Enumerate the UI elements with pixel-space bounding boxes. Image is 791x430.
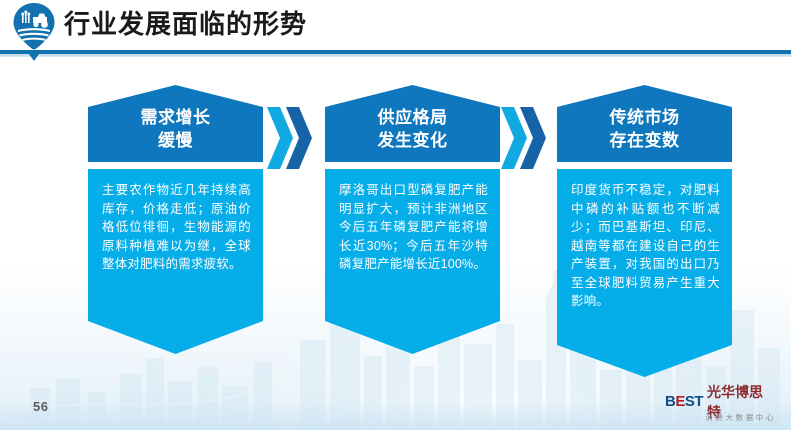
slide-canvas: 行业发展面临的形势 需求增长 缓慢 主要农作物近几年持续高库存，价格走低；原油价…: [0, 0, 791, 430]
flow-step-3-text: 印度货币不稳定，对肥料中磷的补贴额也不断减少；而巴基斯坦、印尼、越南等都在建设自…: [571, 181, 720, 311]
brand-wordmark: BEST: [665, 393, 703, 410]
double-chevron-right-icon: [501, 107, 559, 169]
chevron-dark-icon: [520, 107, 546, 169]
flow-step-3-body: 印度货币不稳定，对肥料中磷的补贴额也不断减少；而巴基斯坦、印尼、越南等都在建设自…: [557, 169, 732, 377]
flow-step-2-text: 摩洛哥出口型磷复肥产能明显扩大，预计非洲地区今后五年磷复肥产能将增长近30%；今…: [339, 181, 488, 274]
flow-step-1-header: 需求增长 缓慢: [88, 85, 263, 162]
flow-step-2-heading: 供应格局 发生变化: [378, 106, 448, 152]
page-title: 行业发展面临的形势: [64, 7, 307, 41]
chevron-dark-icon: [286, 107, 312, 169]
flow-step-2-header: 供应格局 发生变化: [325, 85, 500, 162]
brand-subtitle: 消费大数据中心: [665, 412, 777, 423]
brand-logo: BEST 光华博思特 消费大数据中心: [665, 392, 777, 424]
flow-step-2[interactable]: 供应格局 发生变化 摩洛哥出口型磷复肥产能明显扩大，预计非洲地区今后五年磷复肥产…: [325, 85, 500, 354]
brand-wordmark-prefix: B: [665, 393, 675, 410]
flow-step-3-heading: 传统市场 存在变数: [610, 106, 680, 152]
brand-wordmark-suffix: ST: [685, 393, 703, 410]
title-divider: [0, 50, 791, 57]
flow-step-1-text: 主要农作物近几年持续高库存，价格走低；原油价格低位徘徊，生物能源的原料种植难以为…: [102, 181, 251, 274]
double-chevron-right-icon: [267, 107, 325, 169]
slide-header: 行业发展面临的形势: [0, 0, 791, 52]
flow-step-1-body: 主要农作物近几年持续高库存，价格走低；原油价格低位徘徊，生物能源的原料种植难以为…: [88, 169, 263, 354]
flow-step-2-body: 摩洛哥出口型磷复肥产能明显扩大，预计非洲地区今后五年磷复肥产能将增长近30%；今…: [325, 169, 500, 354]
page-number: 56: [33, 399, 48, 414]
flow-step-1[interactable]: 需求增长 缓慢 主要农作物近几年持续高库存，价格走低；原油价格低位徘徊，生物能源…: [88, 85, 263, 354]
farm-pin-logo-icon: [11, 2, 57, 50]
flow-step-1-heading: 需求增长 缓慢: [141, 106, 211, 152]
process-flow: 需求增长 缓慢 主要农作物近几年持续高库存，价格走低；原油价格低位徘徊，生物能源…: [0, 85, 791, 385]
brand-wordmark-e: E: [675, 393, 685, 410]
flow-step-3[interactable]: 传统市场 存在变数 印度货币不稳定，对肥料中磷的补贴额也不断减少；而巴基斯坦、印…: [557, 85, 732, 377]
flow-step-3-header: 传统市场 存在变数: [557, 85, 732, 162]
